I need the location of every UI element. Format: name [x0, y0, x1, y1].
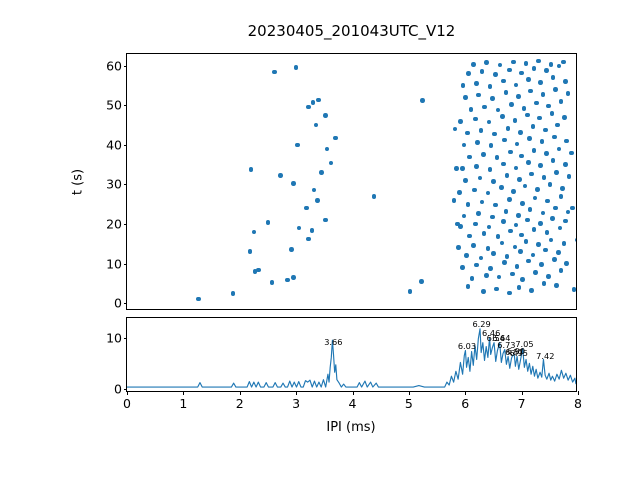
scatter-point	[543, 128, 548, 133]
scatter-point	[544, 68, 549, 73]
scatter-point	[542, 175, 547, 180]
x-tick-mark	[465, 391, 466, 395]
scatter-point	[314, 123, 319, 128]
scatter-point	[572, 287, 576, 292]
scatter-point	[524, 239, 529, 244]
peak-annotation: 3.66	[324, 338, 342, 346]
scatter-point	[528, 89, 533, 94]
scatter-point	[457, 190, 462, 195]
x-tick-label: 8	[574, 396, 582, 411]
scatter-point	[476, 93, 481, 98]
scatter-point	[529, 288, 534, 293]
scatter-point	[285, 278, 290, 283]
scatter-point	[559, 194, 564, 199]
scatter-point	[538, 163, 543, 168]
chart-title: 20230405_201043UTC_V12	[126, 22, 577, 40]
scatter-point	[561, 60, 566, 65]
scatter-point	[538, 221, 543, 226]
scatter-point	[559, 99, 564, 104]
peak-annotation: 6.29	[472, 320, 490, 328]
x-tick-mark	[240, 391, 241, 395]
scatter-point	[508, 229, 513, 234]
scatter-point	[526, 160, 531, 165]
scatter-point	[489, 143, 494, 148]
scatter-point	[496, 234, 501, 239]
scatter-point	[519, 154, 524, 159]
scatter-point	[501, 162, 506, 167]
scatter-point	[494, 287, 499, 292]
scatter-point	[478, 176, 483, 181]
scatter-point	[453, 127, 458, 132]
scatter-point	[545, 199, 550, 204]
scatter-point	[526, 77, 531, 82]
scatter-point	[316, 98, 321, 103]
scatter-point	[505, 173, 510, 178]
scatter-point	[507, 68, 512, 73]
scatter-point	[486, 246, 491, 251]
hist-y-tick-label: 10	[106, 331, 122, 346]
scatter-point	[304, 206, 309, 211]
scatter-point	[419, 279, 424, 284]
scatter-point	[540, 139, 545, 144]
scatter-point	[488, 167, 493, 172]
scatter-point	[454, 166, 459, 171]
matplotlib-figure: 20230405_201043UTC_V12 0102030405060 t (…	[0, 0, 640, 480]
scatter-point	[323, 218, 328, 223]
scatter-point	[542, 281, 547, 286]
y-tick-mark	[124, 184, 128, 185]
scatter-point	[479, 256, 484, 261]
scatter-point	[325, 147, 330, 152]
scatter-point	[464, 253, 469, 258]
scatter-point	[471, 243, 476, 248]
scatter-point	[556, 250, 561, 255]
hist-y-tick-mark	[124, 389, 128, 390]
y-tick-mark	[124, 145, 128, 146]
scatter-point	[506, 126, 511, 131]
scatter-point	[551, 158, 556, 163]
scatter-point	[549, 238, 554, 243]
scatter-point	[525, 113, 530, 118]
x-tick-mark	[127, 391, 128, 395]
scatter-point	[569, 151, 574, 156]
scatter-point	[550, 111, 555, 116]
y-tick-mark	[124, 224, 128, 225]
peak-annotation: 7.05	[515, 340, 533, 348]
scatter-point	[505, 254, 510, 259]
scatter-point	[466, 71, 471, 76]
scatter-point	[196, 297, 201, 302]
scatter-panel: 0102030405060	[126, 53, 577, 310]
scatter-point	[558, 226, 563, 231]
y-tick-mark	[124, 66, 128, 67]
scatter-point	[496, 108, 501, 113]
scatter-plot-area	[127, 54, 576, 309]
scatter-point	[563, 162, 568, 167]
scatter-point	[562, 115, 567, 120]
scatter-point	[490, 96, 495, 101]
x-tick-label: 0	[123, 396, 131, 411]
x-tick-label: 4	[349, 396, 357, 411]
scatter-point	[480, 200, 485, 205]
scatter-point	[516, 94, 521, 99]
y-axis-label: t (s)	[71, 169, 86, 195]
x-tick-label: 1	[179, 396, 187, 411]
scatter-point	[554, 170, 559, 175]
scatter-point	[476, 211, 481, 216]
scatter-point	[544, 151, 549, 156]
scatter-point	[323, 113, 328, 118]
scatter-point	[564, 139, 569, 144]
scatter-point	[306, 105, 311, 110]
scatter-point	[507, 197, 512, 202]
scatter-point	[533, 270, 538, 275]
scatter-point	[537, 116, 542, 121]
scatter-point	[372, 194, 377, 199]
x-tick-label: 7	[518, 396, 526, 411]
scatter-point	[534, 101, 539, 106]
scatter-point	[469, 107, 474, 112]
scatter-point	[499, 185, 504, 190]
y-tick-label: 10	[106, 256, 122, 271]
scatter-point	[522, 106, 527, 111]
scatter-point	[310, 228, 315, 233]
scatter-point	[541, 92, 546, 97]
scatter-point	[491, 251, 496, 256]
scatter-point	[550, 216, 555, 221]
x-tick-mark	[183, 391, 184, 395]
scatter-point	[511, 60, 516, 65]
scatter-point	[484, 273, 489, 278]
scatter-point	[291, 275, 296, 280]
scatter-point	[491, 179, 496, 184]
scatter-point	[500, 241, 505, 246]
y-tick-label: 60	[106, 58, 122, 73]
scatter-point	[474, 81, 479, 86]
scatter-point	[484, 60, 489, 65]
scatter-point	[490, 215, 495, 220]
scatter-point	[548, 182, 553, 187]
scatter-point	[515, 142, 520, 147]
y-tick-label: 50	[106, 98, 122, 113]
scatter-point	[270, 280, 275, 285]
scatter-point	[549, 62, 554, 67]
scatter-point	[543, 248, 548, 253]
scatter-point	[514, 83, 519, 88]
scatter-point	[458, 119, 463, 124]
hist-y-tick-label: 0	[114, 381, 122, 396]
scatter-point	[546, 104, 551, 109]
scatter-point	[516, 213, 521, 218]
scatter-point	[532, 148, 537, 153]
x-tick-label: 2	[236, 396, 244, 411]
x-tick-mark	[578, 391, 579, 395]
scatter-point	[498, 63, 503, 68]
scatter-point	[501, 79, 506, 84]
scatter-point	[563, 219, 568, 224]
histogram-panel: 012345678010 3.666.036.296.466.546.646.7…	[126, 317, 577, 392]
scatter-point	[510, 272, 515, 277]
scatter-point	[559, 268, 564, 273]
hist-y-tick-mark	[124, 338, 128, 339]
scatter-point	[481, 289, 486, 294]
scatter-point	[533, 196, 538, 201]
scatter-point	[555, 123, 560, 128]
scatter-point	[466, 202, 471, 207]
scatter-point	[465, 131, 470, 136]
scatter-point	[536, 59, 541, 64]
scatter-point	[517, 285, 522, 290]
y-tick-mark	[124, 303, 128, 304]
scatter-point	[552, 135, 557, 140]
scatter-point	[531, 253, 536, 258]
scatter-point	[315, 198, 320, 203]
x-axis-label: IPI (ms)	[326, 420, 375, 435]
scatter-point	[514, 166, 519, 171]
scatter-point	[566, 210, 571, 215]
scatter-point	[470, 276, 475, 281]
scatter-point	[564, 261, 569, 266]
scatter-point	[514, 223, 519, 228]
scatter-point	[463, 95, 468, 100]
scatter-point	[562, 241, 567, 246]
scatter-point	[519, 71, 524, 76]
scatter-point	[528, 207, 533, 212]
scatter-point	[570, 206, 575, 211]
scatter-point	[460, 265, 465, 270]
peak-annotation: 7.42	[536, 352, 554, 360]
scatter-point	[546, 274, 551, 279]
scatter-point	[518, 130, 523, 135]
scatter-point	[482, 231, 487, 236]
scatter-point	[256, 268, 261, 273]
scatter-point	[519, 233, 524, 238]
scatter-point	[488, 266, 493, 271]
scatter-point	[291, 181, 296, 186]
scatter-point	[511, 189, 516, 194]
scatter-point	[567, 174, 572, 179]
scatter-point	[553, 206, 558, 211]
x-tick-mark	[296, 391, 297, 395]
scatter-point	[527, 136, 532, 141]
scatter-point	[492, 132, 497, 137]
scatter-point	[557, 64, 562, 69]
scatter-point	[482, 105, 487, 110]
scatter-point	[563, 79, 568, 84]
scatter-point	[272, 70, 277, 75]
y-tick-label: 30	[106, 177, 122, 192]
scatter-point	[524, 61, 529, 66]
scatter-point	[231, 291, 236, 296]
scatter-point	[495, 155, 500, 160]
scatter-point	[493, 72, 498, 77]
scatter-point	[462, 143, 467, 148]
scatter-point	[467, 155, 472, 160]
scatter-point	[488, 84, 493, 89]
scatter-point	[504, 90, 509, 95]
scatter-point	[474, 164, 479, 169]
y-tick-label: 20	[106, 217, 122, 232]
x-tick-label: 6	[461, 396, 469, 411]
x-tick-mark	[522, 391, 523, 395]
scatter-point	[497, 275, 502, 280]
scatter-point	[515, 264, 520, 269]
scatter-point	[455, 222, 460, 227]
scatter-point	[551, 75, 556, 80]
scatter-point	[513, 118, 518, 123]
scatter-point	[500, 114, 505, 119]
scatter-point	[553, 87, 558, 92]
scatter-point	[329, 161, 334, 166]
scatter-point	[535, 187, 540, 192]
scatter-point	[306, 237, 311, 242]
scatter-point	[518, 249, 523, 254]
scatter-point	[289, 247, 294, 252]
y-tick-label: 0	[114, 296, 122, 311]
scatter-point	[460, 166, 465, 171]
y-tick-mark	[124, 264, 128, 265]
scatter-point	[461, 83, 466, 88]
scatter-point	[319, 170, 324, 175]
scatter-point	[523, 184, 528, 189]
scatter-point	[467, 234, 472, 239]
scatter-point	[473, 117, 478, 122]
scatter-point	[463, 178, 468, 183]
scatter-point	[479, 128, 484, 133]
scatter-point	[517, 177, 522, 182]
scatter-point	[520, 277, 525, 282]
x-tick-label: 5	[405, 396, 413, 411]
scatter-point	[486, 191, 491, 196]
peak-annotation: 6.03	[458, 342, 476, 350]
scatter-point	[487, 120, 492, 125]
scatter-point	[501, 219, 506, 224]
scatter-point	[504, 209, 509, 214]
scatter-point	[539, 262, 544, 267]
y-tick-mark	[124, 105, 128, 106]
scatter-point	[480, 69, 485, 74]
scatter-point	[333, 136, 338, 141]
scatter-point	[575, 238, 576, 243]
x-tick-label: 3	[292, 396, 300, 411]
scatter-point	[532, 227, 537, 232]
scatter-point	[248, 249, 253, 254]
scatter-point	[297, 226, 302, 231]
scatter-point	[502, 260, 507, 265]
scatter-point	[472, 188, 477, 193]
scatter-point	[311, 100, 316, 105]
scatter-point	[493, 203, 498, 208]
scatter-point	[481, 152, 486, 157]
scatter-point	[525, 218, 530, 223]
scatter-point	[538, 80, 543, 85]
scatter-point	[566, 91, 571, 96]
scatter-point	[520, 201, 525, 206]
scatter-point	[513, 245, 518, 250]
scatter-point	[560, 186, 565, 191]
scatter-point	[462, 214, 467, 219]
scatter-point	[266, 220, 271, 225]
scatter-point	[541, 211, 546, 216]
scatter-point	[475, 140, 480, 145]
scatter-point	[474, 263, 479, 268]
scatter-point	[295, 143, 300, 148]
scatter-point	[408, 289, 413, 294]
scatter-point	[252, 230, 257, 235]
scatter-point	[420, 98, 425, 103]
scatter-point	[473, 222, 478, 227]
x-tick-mark	[409, 391, 410, 395]
scatter-point	[529, 172, 534, 177]
scatter-point	[502, 138, 507, 143]
scatter-point	[507, 291, 512, 296]
scatter-point	[456, 245, 461, 250]
scatter-point	[557, 147, 562, 152]
scatter-point	[508, 150, 513, 155]
scatter-point	[509, 102, 514, 107]
scatter-point	[278, 173, 283, 178]
scatter-point	[452, 198, 457, 203]
scatter-point	[312, 188, 317, 193]
scatter-point	[531, 124, 536, 129]
scatter-point	[471, 62, 476, 67]
scatter-point	[536, 242, 541, 247]
x-tick-mark	[353, 391, 354, 395]
scatter-point	[526, 259, 531, 264]
scatter-point	[294, 65, 299, 70]
scatter-point	[249, 167, 254, 172]
scatter-point	[545, 230, 550, 235]
scatter-point	[532, 66, 537, 71]
scatter-point	[554, 283, 559, 288]
scatter-point	[552, 257, 557, 262]
y-tick-label: 40	[106, 137, 122, 152]
peak-annotation: 6.95	[510, 349, 528, 357]
scatter-point	[466, 284, 471, 289]
scatter-point	[487, 225, 492, 230]
